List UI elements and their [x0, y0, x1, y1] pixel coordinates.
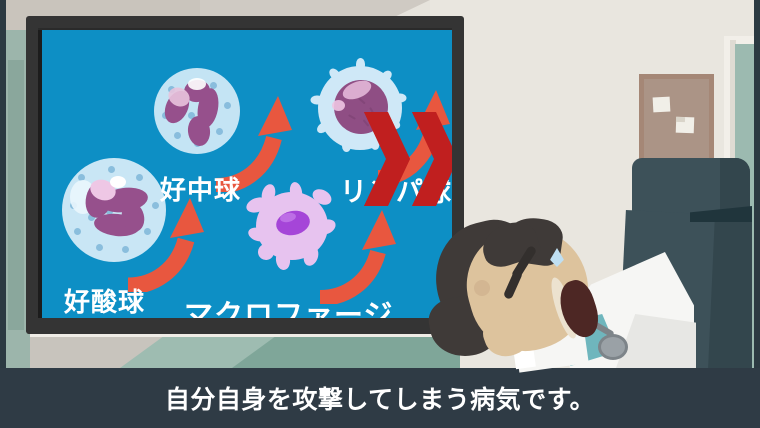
membrane-spike — [356, 58, 365, 70]
corkboard-note-fold — [676, 117, 685, 122]
corkboard-note — [653, 97, 671, 113]
granule — [144, 228, 151, 235]
subtitle-bar: 自分自身を攻撃してしまう病気です。 — [0, 368, 760, 428]
cell-eosinophil — [62, 158, 166, 262]
granule — [174, 132, 181, 139]
doctor-nose — [474, 280, 490, 296]
cell-macrophage — [246, 184, 338, 270]
nucleus-highlight — [110, 176, 126, 188]
granule — [96, 244, 103, 251]
granule — [122, 246, 129, 253]
cell-neutrophil — [154, 68, 240, 154]
granule — [152, 202, 159, 209]
doctor-character — [420, 218, 680, 368]
membrane-spike — [395, 94, 407, 103]
granule — [74, 228, 81, 235]
granule — [216, 128, 223, 135]
label-neutrophil: 好中球 — [160, 170, 241, 207]
label-macrophage: マクロファージ — [184, 292, 393, 318]
granule — [136, 174, 143, 181]
monitor-screen: 好中球 好酸球 マクロファージ リンパ球 — [42, 30, 452, 318]
granule — [108, 166, 115, 173]
nucleus-highlight — [332, 100, 345, 111]
office-chair-backrest-shade — [708, 212, 752, 370]
corkboard — [639, 74, 714, 164]
green-wall-stripe — [8, 60, 24, 330]
membrane-spike — [311, 96, 323, 105]
granule — [224, 102, 231, 109]
screenshot-root: 好中球 好酸球 マクロファージ リンパ球 自分自身を攻撃してしまう病気です。 — [0, 0, 760, 428]
frame-edge-left — [0, 0, 6, 368]
subtitle-text: 自分自身を攻撃してしまう病気です。 — [165, 380, 595, 416]
membrane-spike — [342, 140, 351, 152]
frame-edge-right — [754, 0, 760, 368]
stethoscope-chestpiece-icon — [598, 334, 628, 360]
label-eosinophil: 好酸球 — [64, 282, 145, 318]
nucleus-highlight — [188, 78, 206, 90]
